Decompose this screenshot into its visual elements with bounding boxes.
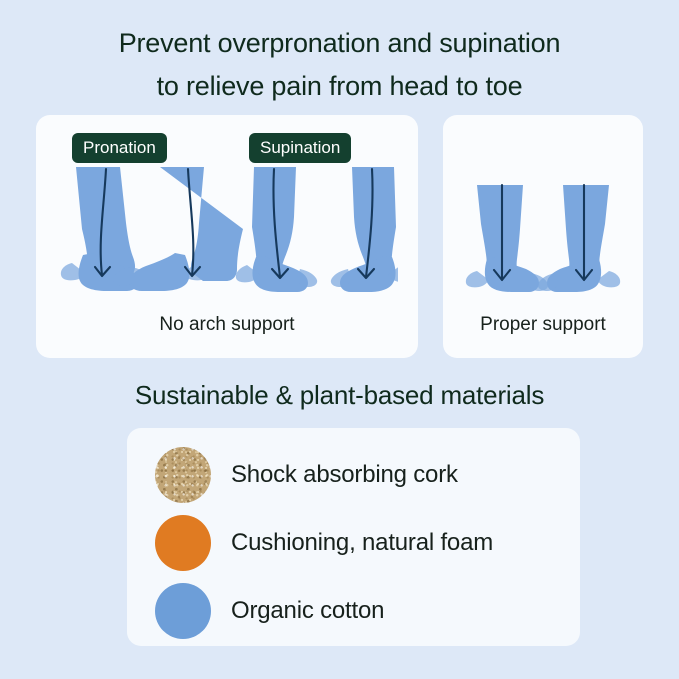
legs-proper-alignment-icon	[461, 163, 625, 308]
condition-badges: Pronation Supination	[36, 133, 418, 165]
headline-line-2: to relieve pain from head to toe	[0, 65, 679, 108]
list-item: Cushioning, natural foam	[155, 512, 580, 574]
list-item: Shock absorbing cork	[155, 444, 580, 506]
cotton-swatch-icon	[155, 583, 211, 639]
material-label: Organic cotton	[231, 597, 384, 625]
proper-support-card: Proper support	[443, 115, 643, 358]
comparison-section: Pronation Supination	[36, 115, 643, 358]
badge-supination: Supination	[249, 133, 351, 163]
page-headline: Prevent overpronation and supination to …	[0, 22, 679, 108]
no-arch-support-illustration	[36, 163, 418, 308]
foam-swatch-icon	[155, 515, 211, 571]
list-item: Organic cotton	[155, 580, 580, 642]
cork-swatch-icon	[155, 447, 211, 503]
materials-list: Shock absorbing cork Cushioning, natural…	[155, 444, 580, 648]
material-label: Shock absorbing cork	[231, 461, 458, 489]
material-label: Cushioning, natural foam	[231, 529, 493, 557]
headline-line-1: Prevent overpronation and supination	[0, 22, 679, 65]
legs-pronation-supination-icon	[58, 163, 398, 308]
proper-support-caption: Proper support	[443, 314, 643, 336]
materials-section-title: Sustainable & plant-based materials	[0, 380, 679, 411]
materials-card: Shock absorbing cork Cushioning, natural…	[127, 428, 580, 646]
no-arch-support-card: Pronation Supination	[36, 115, 418, 358]
badge-pronation: Pronation	[72, 133, 167, 163]
no-arch-support-caption: No arch support	[36, 314, 418, 336]
proper-support-illustration	[443, 163, 643, 308]
